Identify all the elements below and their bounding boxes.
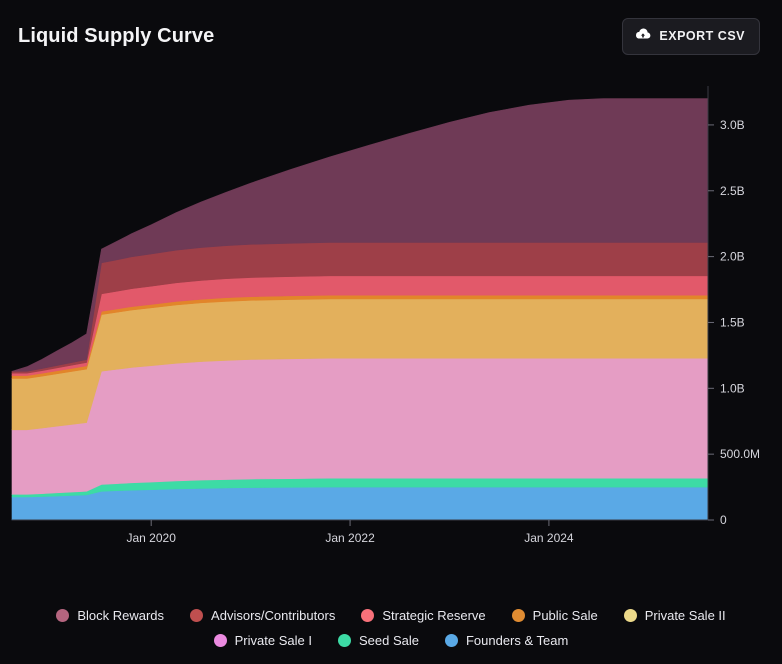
legend-item-founders-team[interactable]: Founders & Team <box>445 633 568 648</box>
legend-color-swatch <box>56 609 69 622</box>
chart-plot-area: 0500.0M1.0B1.5B2.0B2.5B3.0BJan 2020Jan 2… <box>0 72 782 572</box>
legend-color-swatch <box>445 634 458 647</box>
legend-color-swatch <box>214 634 227 647</box>
y-axis-label: 2.5B <box>720 184 745 198</box>
x-axis-label: Jan 2022 <box>325 531 375 545</box>
chart-legend: Block RewardsAdvisors/ContributorsStrate… <box>0 608 782 654</box>
legend-label: Private Sale II <box>645 608 726 623</box>
legend-item-block-rewards[interactable]: Block Rewards <box>56 608 164 623</box>
x-axis-label: Jan 2020 <box>127 531 177 545</box>
legend-label: Block Rewards <box>77 608 164 623</box>
legend-color-swatch <box>190 609 203 622</box>
y-axis-label: 2.0B <box>720 250 745 264</box>
y-axis-label: 3.0B <box>720 118 745 132</box>
export-csv-button[interactable]: EXPORT CSV <box>622 18 760 55</box>
y-axis-label: 0 <box>720 513 727 527</box>
liquid-supply-curve-card: Liquid Supply Curve EXPORT CSV 0500.0M1.… <box>0 0 782 664</box>
y-axis-label: 500.0M <box>720 447 760 461</box>
legend-label: Private Sale I <box>235 633 312 648</box>
area-band-founders-team <box>12 487 708 520</box>
legend-item-strategic-reserve[interactable]: Strategic Reserve <box>361 608 485 623</box>
page-title: Liquid Supply Curve <box>18 25 214 48</box>
card-header: Liquid Supply Curve EXPORT CSV <box>0 0 782 72</box>
legend-item-public-sale[interactable]: Public Sale <box>512 608 598 623</box>
export-csv-label: EXPORT CSV <box>659 29 745 43</box>
legend-item-advisors-contributors[interactable]: Advisors/Contributors <box>190 608 335 623</box>
legend-item-seed-sale[interactable]: Seed Sale <box>338 633 419 648</box>
x-axis-label: Jan 2024 <box>524 531 574 545</box>
cloud-download-icon <box>635 27 651 46</box>
legend-label: Advisors/Contributors <box>211 608 335 623</box>
legend-color-swatch <box>624 609 637 622</box>
legend-item-private-sale-ii[interactable]: Private Sale II <box>624 608 726 623</box>
legend-label: Strategic Reserve <box>382 608 485 623</box>
legend-label: Seed Sale <box>359 633 419 648</box>
legend-color-swatch <box>361 609 374 622</box>
stacked-area-chart: 0500.0M1.0B1.5B2.0B2.5B3.0BJan 2020Jan 2… <box>0 72 782 572</box>
y-axis-label: 1.0B <box>720 381 745 395</box>
legend-item-private-sale-i[interactable]: Private Sale I <box>214 633 312 648</box>
legend-label: Founders & Team <box>466 633 568 648</box>
legend-color-swatch <box>338 634 351 647</box>
legend-row: Block RewardsAdvisors/ContributorsStrate… <box>0 608 782 623</box>
area-band-private-sale-i <box>12 358 708 494</box>
y-axis-label: 1.5B <box>720 315 745 329</box>
legend-label: Public Sale <box>533 608 598 623</box>
legend-color-swatch <box>512 609 525 622</box>
legend-row: Private Sale ISeed SaleFounders & Team <box>0 633 782 648</box>
